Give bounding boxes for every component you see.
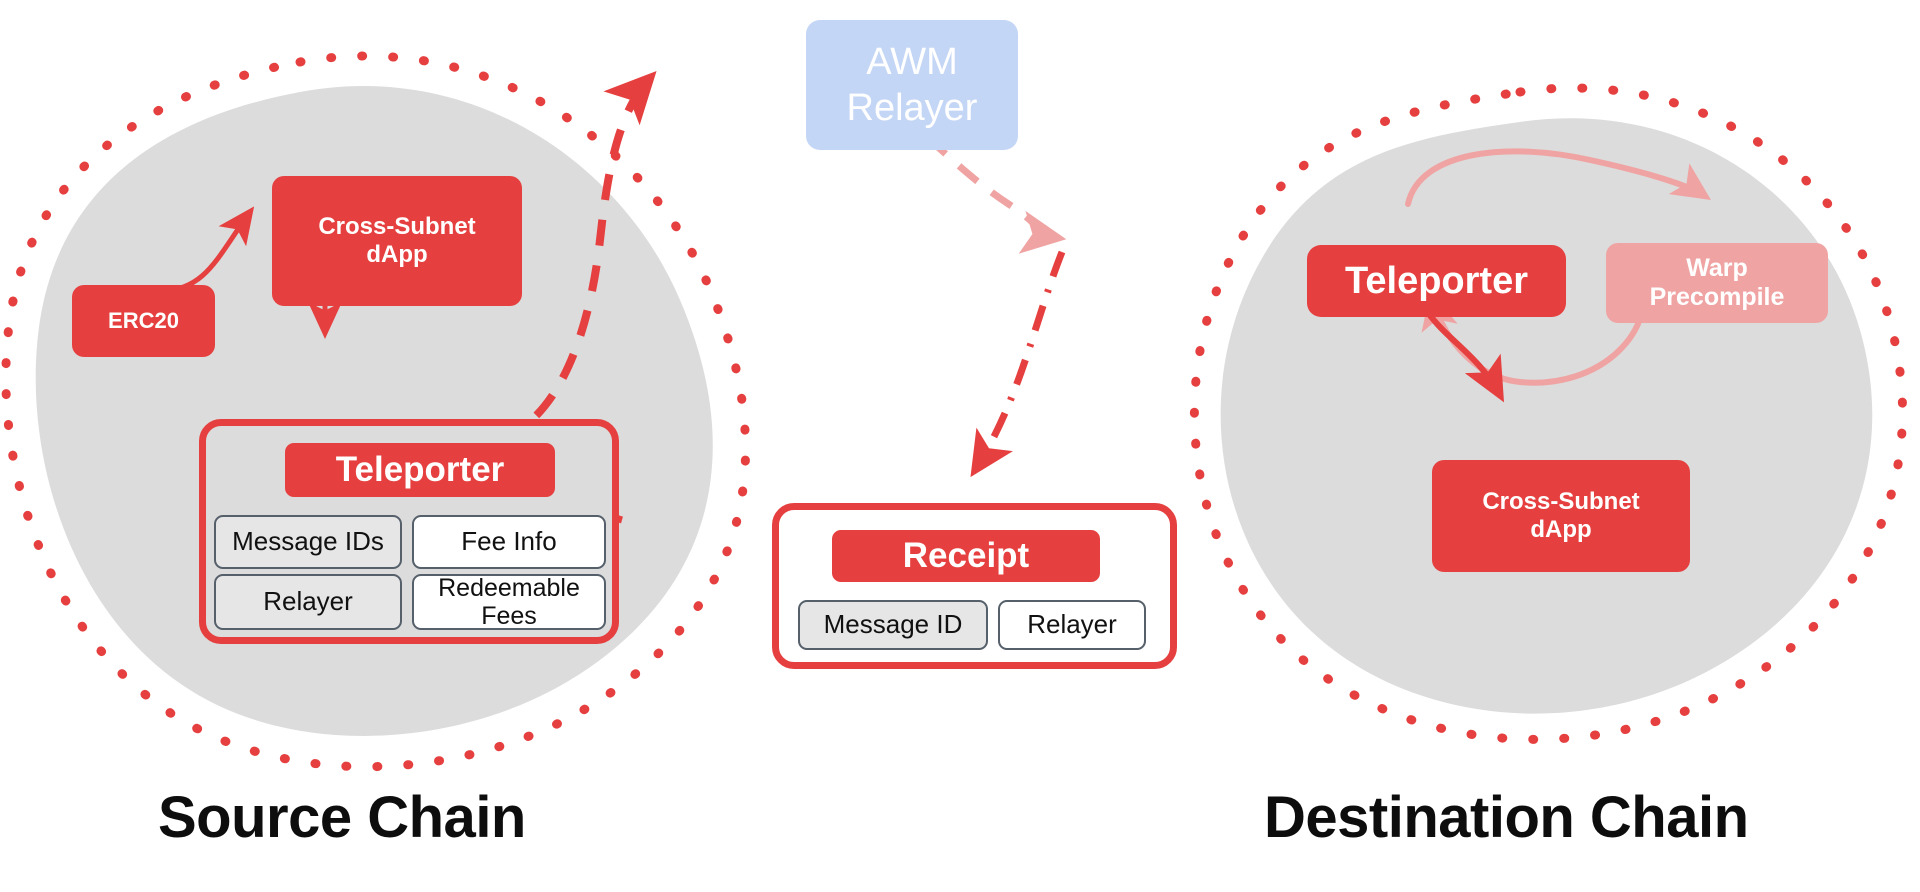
source-chain-label: Source Chain: [158, 784, 526, 851]
node-source-cross-subnet-dapp[interactable]: Cross-Subnet dApp: [272, 176, 522, 306]
node-destination-dapp-label-line2: dApp: [1530, 516, 1591, 544]
node-warp-precompile-label-line2: Precompile: [1650, 283, 1785, 313]
receipt-field-relayer-label: Relayer: [1027, 610, 1117, 640]
destination-chain-label: Destination Chain: [1264, 784, 1749, 851]
node-erc20-label: ERC20: [108, 308, 179, 334]
node-destination-teleporter[interactable]: Teleporter: [1307, 245, 1566, 317]
source-chain-dotted-border: [6, 56, 746, 767]
source-teleporter-title-label: Teleporter: [336, 450, 505, 490]
receipt-field-message-id-label: Message ID: [824, 610, 963, 640]
edge-teleporter-to-warp-precompile: [1408, 151, 1705, 204]
source-teleporter-title: Teleporter: [285, 443, 555, 497]
node-awm-relayer[interactable]: AWM Relayer: [806, 20, 1018, 150]
receipt-field-message-id[interactable]: Message ID: [798, 600, 988, 650]
node-awm-relayer-label-line2: Relayer: [847, 85, 978, 131]
node-warp-precompile[interactable]: Warp Precompile: [1606, 243, 1828, 323]
receipt-field-relayer[interactable]: Relayer: [998, 600, 1146, 650]
source-field-fee-info[interactable]: Fee Info: [412, 515, 606, 569]
source-field-redeemable-fees[interactable]: Redeemable Fees: [412, 574, 606, 630]
destination-chain-dotted-border: [1194, 88, 1902, 739]
node-erc20[interactable]: ERC20: [72, 285, 215, 357]
source-field-fee-info-label: Fee Info: [461, 527, 556, 557]
diagram-canvas: ERC20 Cross-Subnet dApp Teleporter Messa…: [0, 0, 1920, 892]
node-warp-precompile-label-line1: Warp: [1686, 254, 1748, 284]
node-destination-teleporter-label: Teleporter: [1345, 259, 1528, 304]
source-field-relayer-label: Relayer: [263, 587, 353, 617]
receipt-title: Receipt: [832, 530, 1100, 582]
edge-erc20-to-dapp: [160, 212, 250, 290]
source-chain-label-text: Source Chain: [158, 785, 526, 850]
destination-chain-blob: [1221, 118, 1873, 713]
node-source-dapp-label-line2: dApp: [366, 241, 427, 269]
node-destination-dapp-label-line1: Cross-Subnet: [1482, 488, 1639, 516]
node-destination-cross-subnet-dapp[interactable]: Cross-Subnet dApp: [1432, 460, 1690, 572]
receipt-title-label: Receipt: [903, 536, 1029, 576]
node-source-dapp-label-line1: Cross-Subnet: [318, 213, 475, 241]
edge-destination-teleporter-to-receipt: [975, 252, 1062, 470]
node-awm-relayer-label-line1: AWM: [866, 39, 957, 85]
source-field-message-ids-label: Message IDs: [232, 527, 384, 557]
source-field-redeemable-fees-label-line2: Fees: [481, 602, 537, 631]
source-field-redeemable-fees-label-line1: Redeemable: [438, 574, 580, 603]
destination-chain-label-text: Destination Chain: [1264, 785, 1749, 850]
source-field-relayer[interactable]: Relayer: [214, 574, 402, 630]
source-field-message-ids[interactable]: Message IDs: [214, 515, 402, 569]
